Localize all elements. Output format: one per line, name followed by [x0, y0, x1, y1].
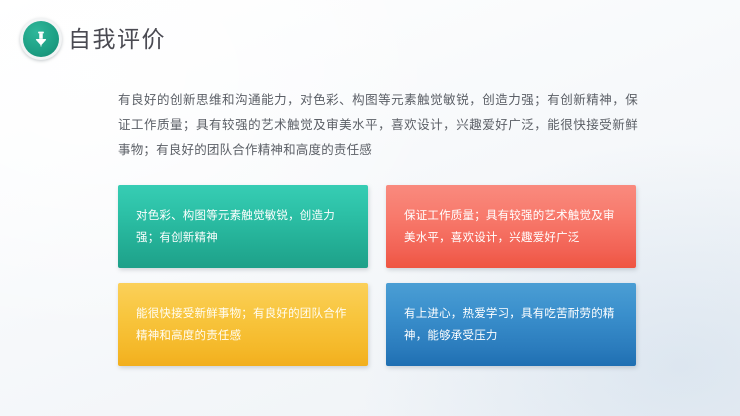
- pushpin-icon: [31, 29, 51, 49]
- highlight-card-quality[interactable]: 保证工作质量；具有较强的艺术触觉及审美水平，喜欢设计，兴趣爱好广泛: [386, 185, 636, 268]
- highlight-card-creativity[interactable]: 对色彩、构图等元素触觉敏锐，创造力强；有创新精神: [118, 185, 368, 268]
- slide-canvas: 自我评价 有良好的创新思维和沟通能力，对色彩、构图等元素触觉敏锐，创造力强；有创…: [0, 0, 740, 416]
- page-title: 自我评价: [68, 20, 166, 58]
- highlight-card-text: 能很快接受新鲜事物；有良好的团队合作精神和高度的责任感: [136, 303, 350, 347]
- title-badge: [20, 18, 62, 60]
- highlight-card-teamwork[interactable]: 能很快接受新鲜事物；有良好的团队合作精神和高度的责任感: [118, 283, 368, 366]
- self-evaluation-paragraph: 有良好的创新思维和沟通能力，对色彩、构图等元素触觉敏锐，创造力强；有创新精神，保…: [118, 88, 638, 163]
- highlight-card-text: 保证工作质量；具有较强的艺术触觉及审美水平，喜欢设计，兴趣爱好广泛: [404, 205, 618, 249]
- highlight-card-motivation[interactable]: 有上进心，热爱学习，具有吃苦耐劳的精神，能够承受压力: [386, 283, 636, 366]
- highlight-card-grid: 对色彩、构图等元素触觉敏锐，创造力强；有创新精神 保证工作质量；具有较强的艺术触…: [118, 185, 630, 363]
- badge-inner-circle: [23, 21, 59, 57]
- highlight-card-text: 有上进心，热爱学习，具有吃苦耐劳的精神，能够承受压力: [404, 303, 618, 347]
- highlight-card-text: 对色彩、构图等元素触觉敏锐，创造力强；有创新精神: [136, 205, 350, 249]
- slide-header: 自我评价: [0, 0, 740, 72]
